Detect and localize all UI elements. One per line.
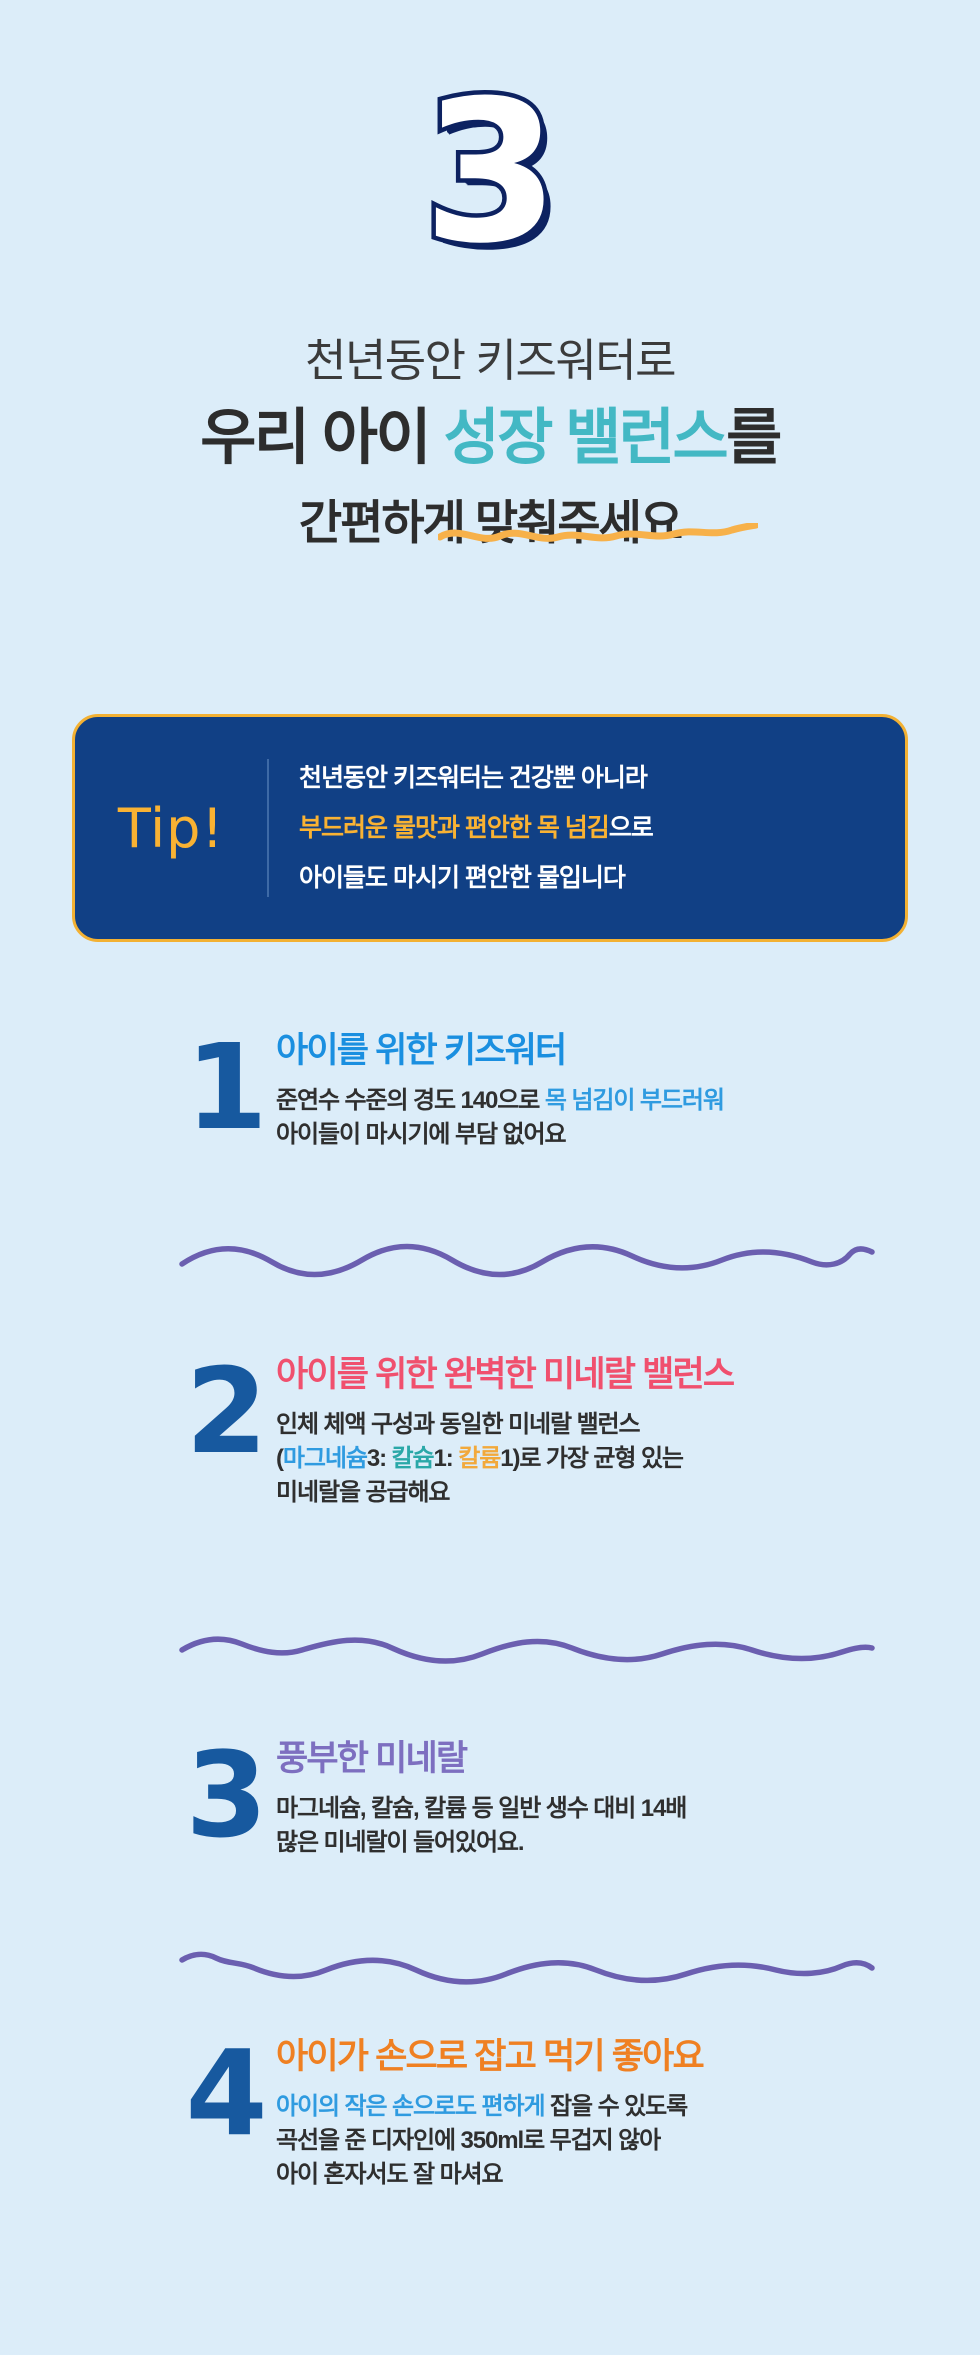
- feature-text-2-paren-open: (: [276, 1445, 283, 1472]
- headline-line-2: 우리 아이 성장 밸런스를: [0, 396, 980, 478]
- feature-body-4: 아이가 손으로 잡고 먹기 좋아요 아이의 작은 손으로도 편하게 잡을 수 있…: [276, 2034, 936, 2192]
- feature-text-4-line-2: 곡선을 준 디자인에 350ml로 무겁지 않아: [276, 2124, 936, 2158]
- tip-box: Tip! 천년동안 키즈워터는 건강뿐 아니라 부드러운 물맛과 편안한 목 넘…: [72, 714, 908, 942]
- feature-text-2-line-2: (마그네슘3: 칼슘1: 칼륨1)로 가장 균형 있는: [276, 1442, 936, 1476]
- headline-line-2-accent: 성장 밸런스: [444, 403, 727, 471]
- feature-title-2: 아이를 위한 완벽한 미네랄 밸런스: [276, 1352, 936, 1398]
- feature-text-2: 인체 체액 구성과 동일한 미네랄 밸런스 (마그네슘3: 칼슘1: 칼륨1)로…: [276, 1408, 936, 1510]
- tip-text-block: 천년동안 키즈워터는 건강뿐 아니라 부드러운 물맛과 편안한 목 넘김으로 아…: [269, 753, 653, 903]
- feature-text-1-line-2: 아이들이 마시기에 부담 없어요: [276, 1118, 936, 1152]
- headline-line-1: 천년동안 키즈워터로: [0, 332, 980, 390]
- tip-line-2: 부드러운 물맛과 편안한 목 넘김으로: [299, 803, 653, 853]
- infographic-page: 3 천년동안 키즈워터로 우리 아이 성장 밸런스를 간편하게 맞춰주세요 Ti…: [0, 0, 980, 2355]
- feature-number-3: 3: [170, 1736, 280, 1854]
- feature-text-3-line-1: 마그네슘, 칼슘, 칼륨 등 일반 생수 대비 14배: [276, 1792, 936, 1826]
- feature-body-1: 아이를 위한 키즈워터 준연수 수준의 경도 140으로 목 넘김이 부드러워 …: [276, 1028, 936, 1152]
- feature-text-2-calcium: 칼슘: [392, 1445, 434, 1472]
- wavy-divider-2-icon: [178, 1628, 878, 1668]
- feature-text-2-potassium-value: 1)로 가장 균형 있는: [500, 1445, 683, 1472]
- feature-text-1-line-1: 준연수 수준의 경도 140으로 목 넘김이 부드러워: [276, 1084, 936, 1118]
- wavy-divider-1-icon: [178, 1238, 878, 1278]
- tip-line-2-post: 으로: [609, 814, 653, 842]
- tip-line-1: 천년동안 키즈워터는 건강뿐 아니라: [299, 753, 653, 803]
- feature-text-2-line-3: 미네랄을 공급해요: [276, 1476, 936, 1510]
- feature-text-2-magnesium-value: 3:: [367, 1445, 392, 1472]
- feature-text-4-line-3: 아이 혼자서도 잘 마셔요: [276, 2158, 936, 2192]
- tip-line-3: 아이들도 마시기 편안한 물입니다: [299, 853, 653, 903]
- hero-headline: 천년동안 키즈워터로 우리 아이 성장 밸런스를 간편하게 맞춰주세요: [0, 332, 980, 554]
- feature-text-1-line-1-pre: 준연수 수준의 경도 140으로: [276, 1087, 545, 1114]
- feature-text-2-magnesium: 마그네슘: [283, 1445, 367, 1472]
- tip-line-2-highlight: 부드러운 물맛과 편안한 목 넘김: [299, 814, 609, 842]
- feature-text-1-line-1-highlight: 목 넘김이 부드러워: [545, 1087, 724, 1114]
- tip-label: Tip!: [75, 797, 267, 860]
- feature-number-1: 1: [170, 1028, 280, 1146]
- headline-line-2-pre: 우리 아이: [200, 403, 443, 471]
- hero-step-number-container: 3: [0, 78, 980, 268]
- hero-step-number: 3: [423, 78, 557, 268]
- feature-title-4: 아이가 손으로 잡고 먹기 좋아요: [276, 2034, 936, 2080]
- feature-number-2: 2: [170, 1352, 280, 1470]
- feature-text-4-line-1-post: 잡을 수 있도록: [544, 2093, 687, 2120]
- feature-title-1: 아이를 위한 키즈워터: [276, 1028, 936, 1074]
- feature-title-3: 풍부한 미네랄: [276, 1736, 936, 1782]
- headline-line-3: 간편하게 맞춰주세요: [0, 492, 980, 554]
- feature-text-2-line-1: 인체 체액 구성과 동일한 미네랄 밸런스: [276, 1408, 936, 1442]
- feature-text-1: 준연수 수준의 경도 140으로 목 넘김이 부드러워 아이들이 마시기에 부담…: [276, 1084, 936, 1152]
- wavy-divider-3-icon: [178, 1948, 878, 1988]
- feature-text-2-potassium: 칼륨: [458, 1445, 500, 1472]
- headline-line-2-post: 를: [726, 403, 780, 471]
- feature-text-3: 마그네슘, 칼슘, 칼륨 등 일반 생수 대비 14배 많은 미네랄이 들어있어…: [276, 1792, 936, 1860]
- feature-number-4: 4: [170, 2034, 280, 2152]
- feature-text-3-line-2: 많은 미네랄이 들어있어요.: [276, 1826, 936, 1860]
- feature-body-2: 아이를 위한 완벽한 미네랄 밸런스 인체 체액 구성과 동일한 미네랄 밸런스…: [276, 1352, 936, 1510]
- feature-text-2-calcium-value: 1:: [434, 1445, 459, 1472]
- feature-text-4-line-1-highlight: 아이의 작은 손으로도 편하게: [276, 2093, 544, 2120]
- feature-body-3: 풍부한 미네랄 마그네슘, 칼슘, 칼륨 등 일반 생수 대비 14배 많은 미…: [276, 1736, 936, 1860]
- feature-text-4-line-1: 아이의 작은 손으로도 편하게 잡을 수 있도록: [276, 2090, 936, 2124]
- feature-text-4: 아이의 작은 손으로도 편하게 잡을 수 있도록 곡선을 준 디자인에 350m…: [276, 2090, 936, 2192]
